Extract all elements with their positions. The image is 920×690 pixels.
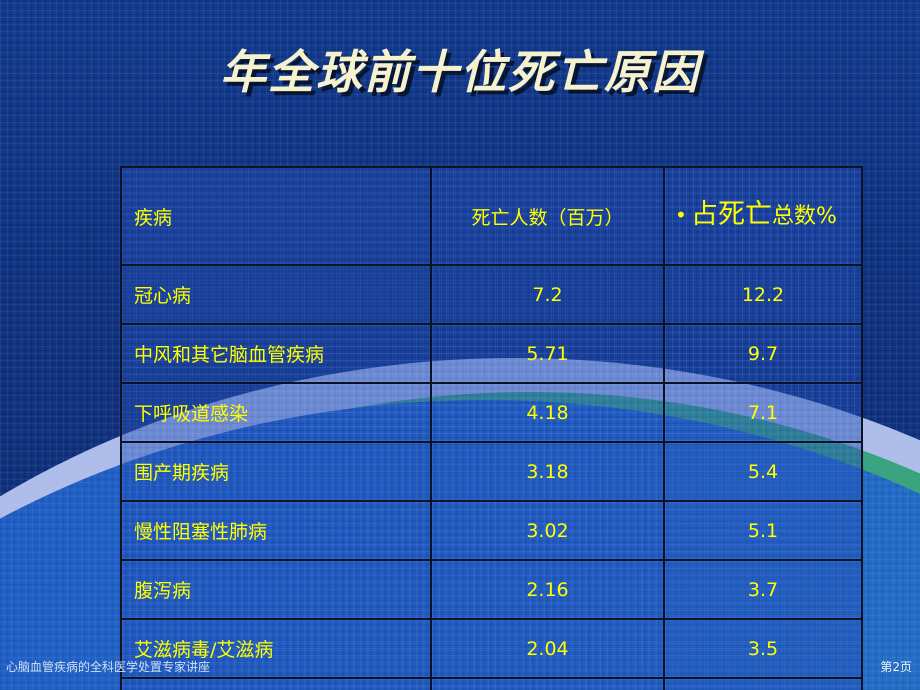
header-percent-secondary: 总数% — [772, 204, 837, 229]
cell-percent: 3.7 — [664, 560, 862, 619]
cell-percent: 9.7 — [664, 324, 862, 383]
table-header-row: 疾病 死亡人数（百万） •占死亡总数% — [121, 167, 862, 265]
cell-disease: 围产期疾病 — [121, 442, 431, 501]
footer-note: 心脑血管疾病的全科医学处置专家讲座 — [6, 658, 210, 675]
table-row: 中风和其它脑血管疾病 5.71 9.7 — [121, 324, 862, 383]
cell-percent: 2.5 — [664, 678, 862, 690]
header-cell-deaths: 死亡人数（百万） — [431, 167, 664, 265]
cell-disease: 冠心病 — [121, 265, 431, 324]
table-row: 腹泻病 2.16 3.7 — [121, 560, 862, 619]
table-row: 下呼吸道感染 4.18 7.1 — [121, 383, 862, 442]
cell-deaths: 2.16 — [431, 560, 664, 619]
cell-disease: 下呼吸道感染 — [121, 383, 431, 442]
page-number: 第2页 — [880, 658, 912, 675]
cell-disease: 中风和其它脑血管疾病 — [121, 324, 431, 383]
table-row: 围产期疾病 3.18 5.4 — [121, 442, 862, 501]
table-row: 慢性阻塞性肺病 3.02 5.1 — [121, 501, 862, 560]
deaths-table-container: 疾病 死亡人数（百万） •占死亡总数% 冠心病 7.2 12.2 中风和其它脑血… — [120, 166, 861, 690]
header-percent-primary: 占死亡 — [691, 199, 772, 230]
cell-percent: 5.1 — [664, 501, 862, 560]
cell-percent: 3.5 — [664, 619, 862, 678]
page-title: 年全球前十位死亡原因 — [0, 44, 920, 100]
cell-deaths: 3.02 — [431, 501, 664, 560]
cell-percent: 12.2 — [664, 265, 862, 324]
cell-disease: 慢性阻塞性肺病 — [121, 501, 431, 560]
table-row: 结核 1.46 2.5 — [121, 678, 862, 690]
cell-disease: 结核 — [121, 678, 431, 690]
cell-deaths: 3.18 — [431, 442, 664, 501]
cell-deaths: 1.46 — [431, 678, 664, 690]
cell-deaths: 7.2 — [431, 265, 664, 324]
cell-deaths: 4.18 — [431, 383, 664, 442]
table-row: 艾滋病毒/艾滋病 2.04 3.5 — [121, 619, 862, 678]
top-ten-causes-table: 疾病 死亡人数（百万） •占死亡总数% 冠心病 7.2 12.2 中风和其它脑血… — [120, 166, 863, 690]
cell-disease: 腹泻病 — [121, 560, 431, 619]
cell-deaths: 5.71 — [431, 324, 664, 383]
header-cell-percent: •占死亡总数% — [664, 167, 862, 265]
cell-percent: 5.4 — [664, 442, 862, 501]
cell-deaths: 2.04 — [431, 619, 664, 678]
bullet-icon: • — [675, 200, 691, 230]
cell-percent: 7.1 — [664, 383, 862, 442]
table-row: 冠心病 7.2 12.2 — [121, 265, 862, 324]
header-cell-disease: 疾病 — [121, 167, 431, 265]
slide-canvas: 年全球前十位死亡原因 疾病 死亡人数（百万） •占死亡总数% 冠心病 7.2 1… — [0, 0, 920, 690]
